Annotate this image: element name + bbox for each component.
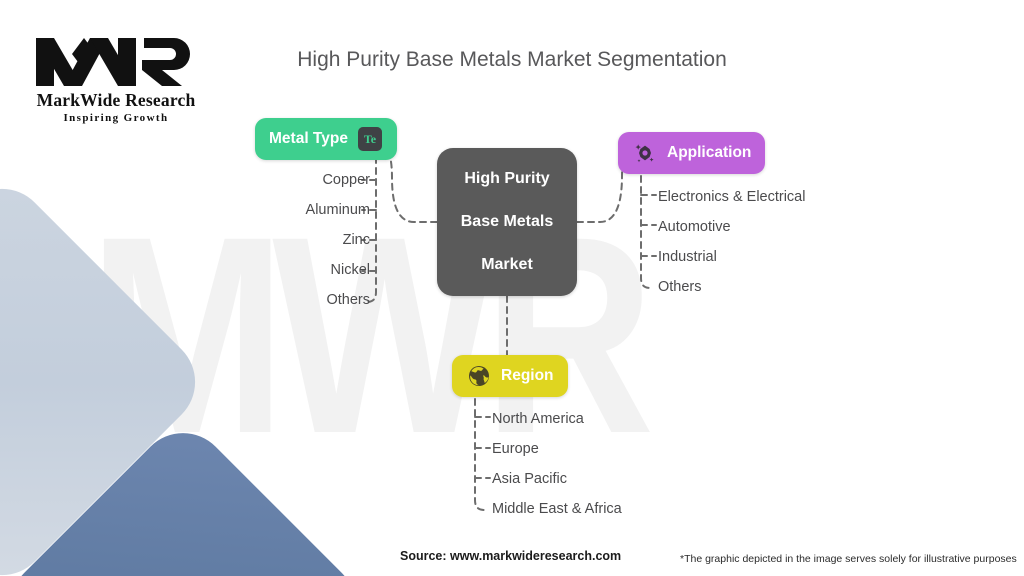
segmentation-diagram: High PurityBase MetalsMarket Metal Type … [0,0,1024,576]
list-item[interactable]: Europe [492,434,622,464]
branch-metal-type-label: Metal Type [269,130,348,148]
branch-region[interactable]: Region [452,355,568,397]
list-item[interactable]: North America [492,404,622,434]
disclaimer-text: *The graphic depicted in the image serve… [680,553,1017,565]
gem-sparkle-icon [632,140,658,166]
list-item[interactable]: Middle East & Africa [492,494,622,524]
list-item[interactable]: Zinc [220,225,370,255]
center-node-label: High PurityBase MetalsMarket [461,168,554,276]
list-item[interactable]: Copper [220,165,370,195]
branch-region-label: Region [501,367,554,385]
list-item[interactable]: Others [658,272,805,302]
region-item-list: North America Europe Asia Pacific Middle… [492,404,622,524]
source-text: Source: www.markwideresearch.com [400,549,621,563]
center-node[interactable]: High PurityBase MetalsMarket [437,148,577,296]
branch-application[interactable]: Application [618,132,765,174]
branch-application-label: Application [667,144,751,162]
list-item[interactable]: Others [220,285,370,315]
metal-type-item-list: Copper Aluminum Zinc Nickel Others [220,165,370,315]
list-item[interactable]: Aluminum [220,195,370,225]
list-item[interactable]: Automotive [658,212,805,242]
application-item-list: Electronics & Electrical Automotive Indu… [658,182,805,302]
globe-icon [466,363,492,389]
list-item[interactable]: Nickel [220,255,370,285]
list-item[interactable]: Asia Pacific [492,464,622,494]
list-item[interactable]: Electronics & Electrical [658,182,805,212]
branch-metal-type[interactable]: Metal Type Te [255,118,397,160]
list-item[interactable]: Industrial [658,242,805,272]
element-te-icon: Te [357,126,383,152]
